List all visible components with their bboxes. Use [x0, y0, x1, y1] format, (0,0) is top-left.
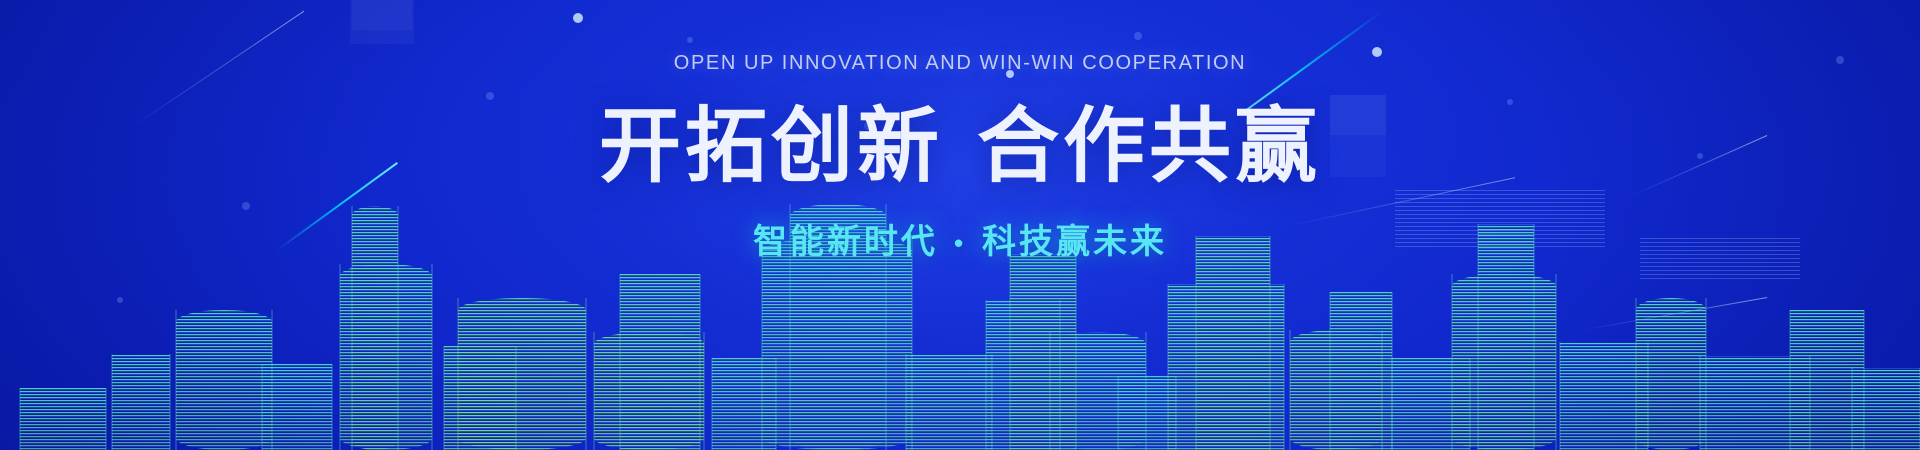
banner-subtitle: 智能新时代•科技赢未来: [0, 214, 1920, 263]
subtitle-phrase-left: 智能新时代: [753, 223, 938, 261]
banner-text-block: OPEN UP INNOVATION AND WIN-WIN COOPERATI…: [0, 52, 1920, 263]
decor-dot-0: [573, 13, 583, 23]
decor-dot-1: [687, 37, 693, 43]
headline-phrase-left: 开拓创新: [599, 101, 943, 192]
decor-dot-11: [117, 297, 123, 303]
banner-headline: 开拓创新合作共赢: [0, 103, 1920, 192]
decor-square-1: [352, 0, 412, 30]
banner-eyebrow: OPEN UP INNOVATION AND WIN-WIN COOPERATI…: [0, 52, 1920, 75]
decor-dot-4: [1134, 32, 1142, 40]
headline-phrase-right: 合作共赢: [977, 101, 1321, 192]
subtitle-phrase-right: 科技赢未来: [982, 223, 1167, 261]
decor-light-streak-5: [1580, 297, 1767, 331]
hero-banner: OPEN UP INNOVATION AND WIN-WIN COOPERATI…: [0, 0, 1920, 450]
subtitle-separator-icon: •: [954, 228, 966, 259]
